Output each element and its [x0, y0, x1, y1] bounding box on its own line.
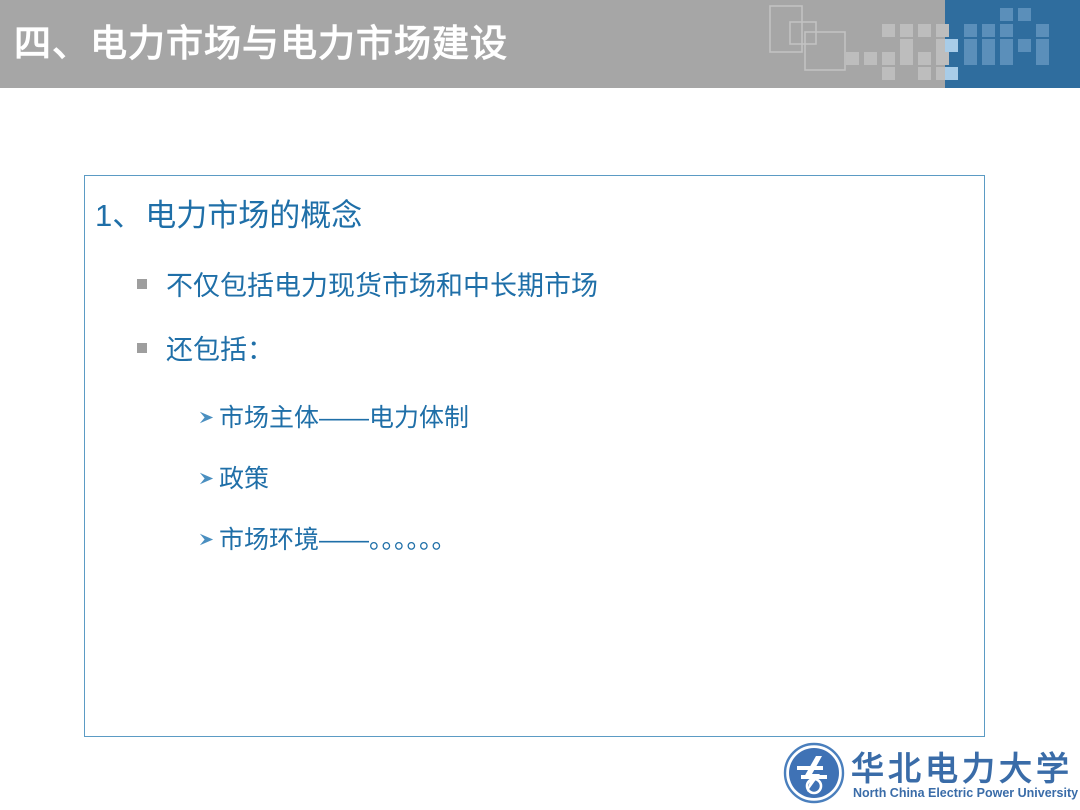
- header-blue-panel: [945, 0, 1080, 88]
- arrow-bullet-icon: [197, 530, 216, 549]
- page-title: 四、电力市场与电力市场建设: [14, 16, 508, 72]
- square-bullet-icon: [137, 279, 147, 289]
- ncepu-emblem-icon: [783, 742, 845, 804]
- list-item-label: 政策: [219, 459, 269, 495]
- list-item-label: 市场主体——电力体制: [219, 398, 469, 434]
- list-item: 市场环境——。。。。。。: [197, 520, 457, 556]
- list-item-label: 市场环境——。。。。。。: [219, 520, 457, 556]
- section-heading: 1、电力市场的概念: [95, 190, 362, 235]
- section-heading-text: 电力市场的概念: [145, 198, 362, 233]
- list-item-label: 不仅包括电力现货市场和中长期市场: [166, 264, 598, 303]
- list-item-label: 还包括：: [166, 328, 274, 367]
- slide-header-bar: 四、电力市场与电力市场建设: [0, 0, 1080, 88]
- content-box: 1、电力市场的概念 不仅包括电力现货市场和中长期市场 还包括： 市场主体——电力…: [84, 175, 985, 737]
- university-name-en: North China Electric Power University: [853, 786, 1078, 800]
- list-item: 市场主体——电力体制: [197, 398, 469, 434]
- arrow-bullet-icon: [197, 469, 216, 488]
- list-item: 不仅包括电力现货市场和中长期市场: [137, 264, 598, 303]
- university-logo: 华北电力大学 North China Electric Power Univer…: [783, 740, 1073, 806]
- section-heading-number: 1、: [95, 198, 143, 233]
- arrow-bullet-icon: [197, 408, 216, 427]
- list-item: 政策: [197, 459, 269, 495]
- list-item: 还包括：: [137, 328, 274, 367]
- square-bullet-icon: [137, 343, 147, 353]
- university-name-cn: 华北电力大学: [851, 742, 1073, 790]
